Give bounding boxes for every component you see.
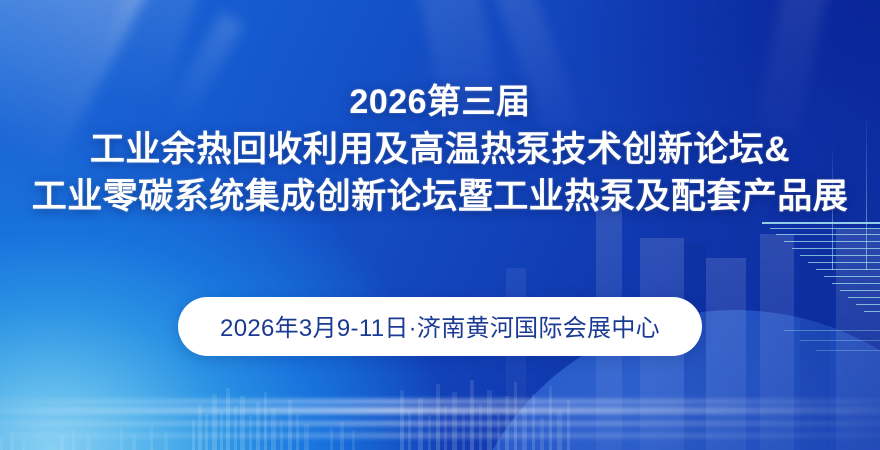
title-line-1: 2026第三届 [0,84,880,121]
date-venue-pill-wrapper: 2026年3月9-11日·济南黄河国际会展中心 [0,297,880,356]
title-line-2: 工业余热回收利用及高温热泵技术创新论坛& [0,131,880,169]
date-venue-pill: 2026年3月9-11日·济南黄河国际会展中心 [178,297,702,356]
date-venue-text: 2026年3月9-11日·济南黄河国际会展中心 [220,315,660,342]
title-line-3: 工业零碳系统集成创新论坛暨工业热泵及配套产品展 [0,178,880,216]
event-banner: 2026第三届 工业余热回收利用及高温热泵技术创新论坛& 工业零碳系统集成创新论… [0,0,880,450]
banner-title-block: 2026第三届 工业余热回收利用及高温热泵技术创新论坛& 工业零碳系统集成创新论… [0,84,880,215]
